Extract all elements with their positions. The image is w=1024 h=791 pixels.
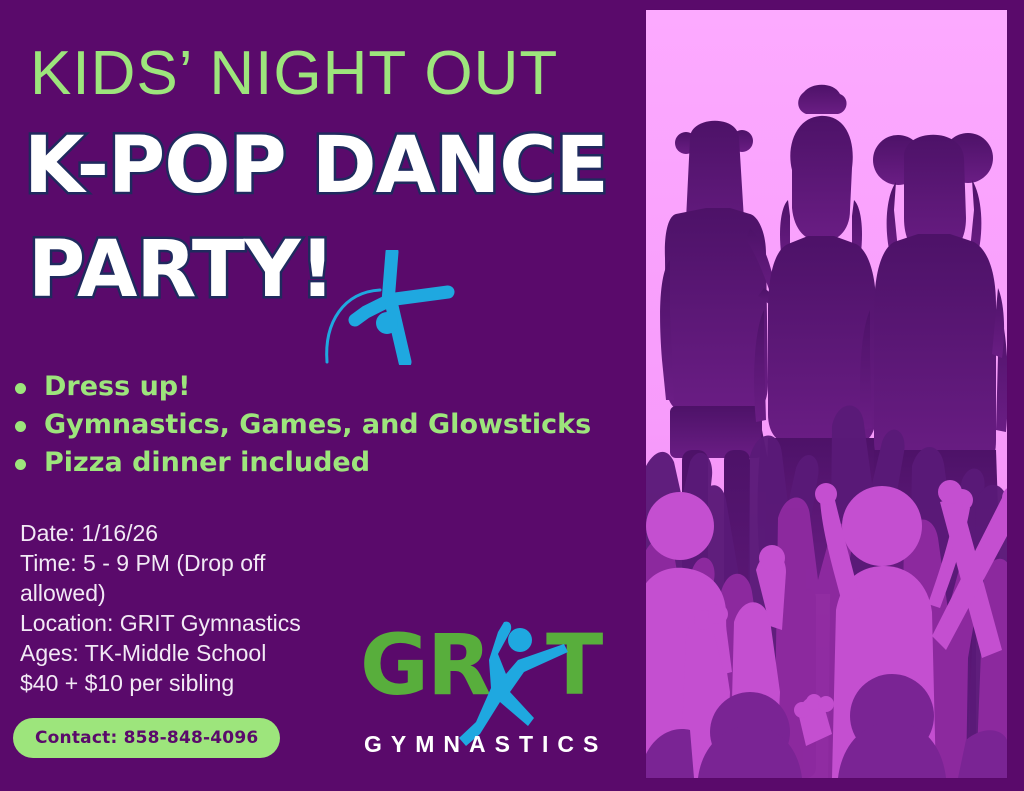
detail-price: $40 + $10 per sibling <box>20 668 350 698</box>
detail-location: Location: GRIT Gymnastics <box>20 608 350 638</box>
logo-subtitle: GYMNASTICS <box>364 731 607 757</box>
logo-wordmark-t: T <box>546 616 603 714</box>
page-title-line-1: K-POP DANCE <box>24 128 608 204</box>
cartwheel-gymnast-icon <box>322 250 472 365</box>
flyer-left-column: KIDS’ NIGHT OUT K-POP DANCE PARTY! Dress… <box>0 0 646 791</box>
contact-phone-badge[interactable]: Contact: 858-848-4096 <box>13 718 280 758</box>
event-details-block: Date: 1/16/26 Time: 5 - 9 PM (Drop off a… <box>20 518 350 698</box>
kpop-crowd-photo <box>646 10 1007 778</box>
detail-ages: Ages: TK-Middle School <box>20 638 350 668</box>
logo-wordmark-gr: GR <box>360 616 490 714</box>
detail-date: Date: 1/16/26 <box>20 518 350 548</box>
page-kicker-heading: KIDS’ NIGHT OUT <box>30 43 630 105</box>
page-title-line-2: PARTY! <box>28 232 334 308</box>
detail-time: Time: 5 - 9 PM (Drop off allowed) <box>20 548 350 608</box>
feature-bullet-list: Dress up! Gymnastics, Games, and Glowsti… <box>6 368 646 482</box>
flyer-root: KIDS’ NIGHT OUT K-POP DANCE PARTY! Dress… <box>0 0 1024 791</box>
list-item: Pizza dinner included <box>6 444 646 482</box>
list-item: Gymnastics, Games, and Glowsticks <box>6 406 646 444</box>
grit-gymnastics-logo: GR T GYMNASTICS <box>358 616 626 761</box>
list-item: Dress up! <box>6 368 646 406</box>
contact-phone-label: Contact: 858-848-4096 <box>35 728 258 748</box>
